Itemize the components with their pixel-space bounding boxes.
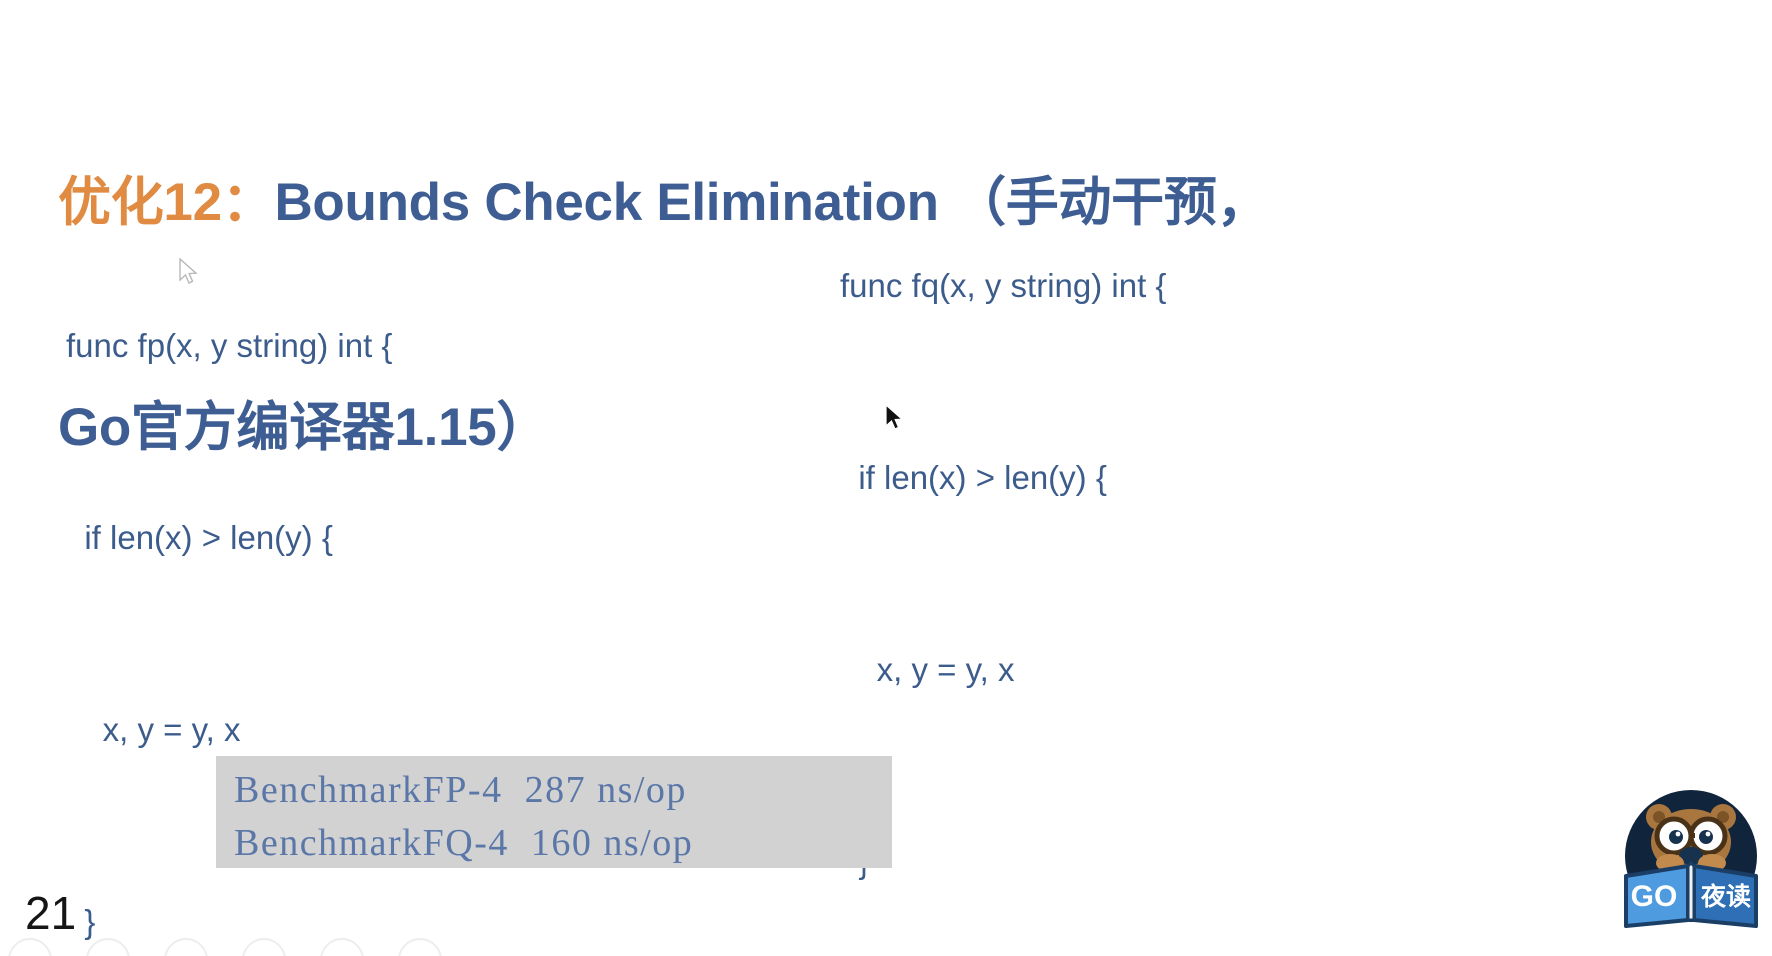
benchmark-results-box: BenchmarkFP-4 287 ns/op BenchmarkFQ-4 16… — [216, 756, 892, 868]
player-toolbar[interactable] — [0, 938, 1772, 956]
code-line: x, y = y, x — [66, 698, 826, 762]
gopher-book-icon: GO 夜读 — [1616, 784, 1766, 934]
logo-text-latin: GO — [1631, 880, 1678, 913]
code-line: x, y = y, x — [840, 638, 1640, 702]
go-night-reading-logo: GO 夜读 — [1616, 784, 1766, 934]
code-line: } — [840, 830, 1640, 894]
mouse-cursor-outline-icon — [178, 258, 200, 288]
code-block-fq: func fq(x, y string) int { if len(x) > l… — [840, 126, 1640, 956]
code-line: func fq(x, y string) int { — [840, 254, 1640, 318]
toolbar-button-1[interactable] — [8, 938, 52, 956]
toolbar-button-5[interactable] — [320, 938, 364, 956]
toolbar-button-3[interactable] — [164, 938, 208, 956]
toolbar-button-6[interactable] — [398, 938, 442, 956]
logo-text-cjk: 夜读 — [1700, 882, 1751, 911]
page-number: 21 — [25, 890, 76, 936]
slide-canvas: 优化12：Bounds Check Elimination （手动干预， Go官… — [0, 0, 1772, 956]
benchmark-row-fq: BenchmarkFQ-4 160 ns/op — [234, 817, 874, 870]
toolbar-button-4[interactable] — [242, 938, 286, 956]
code-line: if len(x) > len(y) { — [66, 506, 826, 570]
code-line: func fp(x, y string) int { — [66, 314, 826, 378]
code-line: if len(x) > len(y) { — [840, 446, 1640, 510]
benchmark-row-fp: BenchmarkFP-4 287 ns/op — [234, 764, 874, 817]
toolbar-button-2[interactable] — [86, 938, 130, 956]
mouse-cursor-icon — [884, 404, 906, 434]
